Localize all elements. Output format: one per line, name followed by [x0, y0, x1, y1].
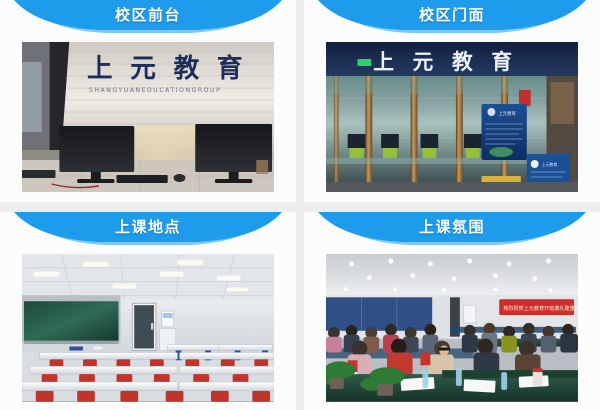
svg-text:育: 育: [491, 50, 512, 74]
photo-frame: 上元教育: [304, 34, 600, 202]
campus-reception-illustration: 上元教育 SHANGYUANEDUCATIONGROUP: [22, 42, 274, 192]
svg-text:上元教育: 上元教育: [542, 162, 558, 167]
svg-text:元: 元: [413, 50, 434, 74]
svg-text:SHANGYUANEDUCATIONGROUP: SHANGYUANEDUCATIONGROUP: [89, 87, 221, 94]
card-banner-label: 校区前台: [115, 8, 181, 23]
card-banner-label: 上课氛围: [419, 220, 485, 235]
class-atmosphere-photo[interactable]: 热烈祝贺上元教育开班典礼隆重举行: [326, 254, 578, 402]
campus-storefront-illustration: 上元教育: [326, 42, 578, 192]
campus-reception-photo[interactable]: 上元教育 SHANGYUANEDUCATIONGROUP: [22, 42, 274, 192]
classroom-illustration: [22, 254, 274, 402]
svg-text:元: 元: [130, 54, 156, 84]
card-banner-campus-storefront: 校区门面: [304, 0, 600, 34]
gallery-card-classroom[interactable]: 上课地点: [0, 212, 296, 410]
classroom-photo[interactable]: [22, 254, 274, 402]
svg-text:育: 育: [217, 53, 243, 84]
photo-frame: [0, 246, 296, 410]
svg-text:上: 上: [373, 50, 394, 74]
card-banner-class-atmosphere: 上课氛围: [304, 212, 600, 246]
svg-text:教: 教: [174, 54, 200, 84]
svg-text:热烈祝贺上元教育开班典礼隆重举行: 热烈祝贺上元教育开班典礼隆重举行: [503, 305, 578, 312]
svg-text:教: 教: [451, 50, 473, 74]
campus-gallery-grid: 校区前台: [0, 0, 600, 400]
svg-text:上: 上: [87, 54, 113, 84]
card-banner-campus-reception: 校区前台: [0, 0, 296, 34]
campus-storefront-photo[interactable]: 上元教育: [326, 42, 578, 192]
gallery-card-campus-reception[interactable]: 校区前台: [0, 0, 296, 202]
photo-frame: 上元教育 SHANGYUANEDUCATIONGROUP: [0, 34, 296, 202]
gallery-card-campus-storefront[interactable]: 校区门面: [304, 0, 600, 202]
svg-text:上元教育: 上元教育: [498, 110, 516, 117]
card-banner-label: 上课地点: [115, 220, 181, 235]
class-atmosphere-illustration: 热烈祝贺上元教育开班典礼隆重举行: [326, 254, 578, 402]
card-banner-label: 校区门面: [419, 8, 485, 23]
photo-frame: 热烈祝贺上元教育开班典礼隆重举行: [304, 246, 600, 410]
gallery-card-class-atmosphere[interactable]: 上课氛围: [304, 212, 600, 410]
card-banner-classroom: 上课地点: [0, 212, 296, 246]
